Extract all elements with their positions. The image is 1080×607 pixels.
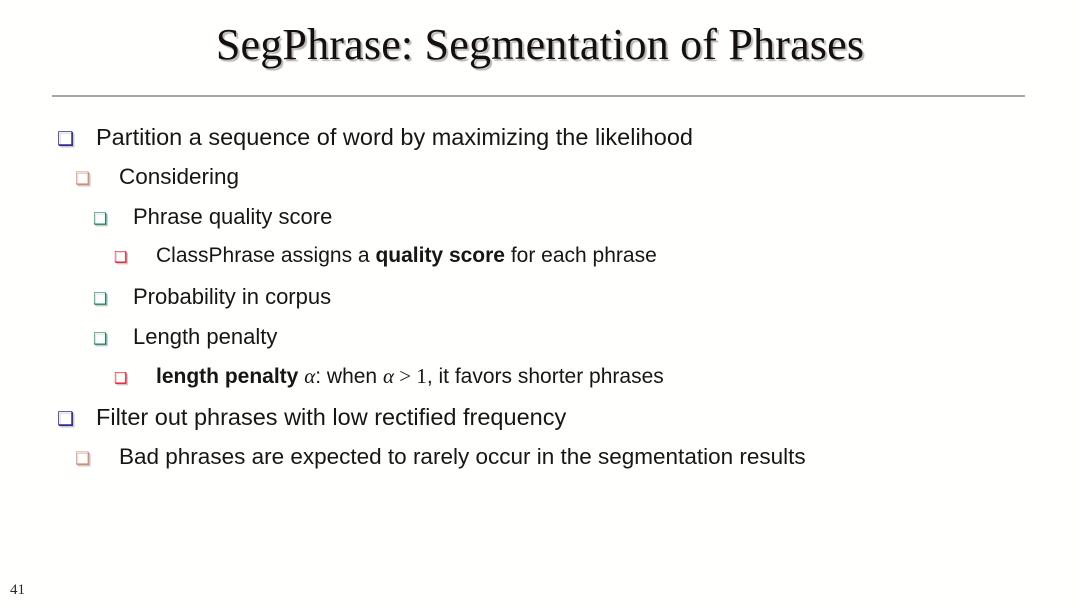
bullet-label: Filter out phrases with low rectified fr…: [96, 404, 1080, 431]
bullet-label: Partition a sequence of word by maximizi…: [96, 124, 1080, 151]
bullet-text-after: , it favors shorter phrases: [427, 365, 664, 388]
bullet-item-classphrase: ❑ ClassPhrase assigns a quality score fo…: [0, 244, 1080, 284]
bullet-item-considering: ❑ Considering: [0, 164, 1080, 204]
numeral-one: 1: [416, 364, 427, 388]
bullet-label: length penalty α: when α > 1, it favors …: [156, 364, 1080, 389]
bullet-text-after: for each phrase: [505, 244, 657, 267]
bullet-label: Length penalty: [133, 324, 1080, 350]
bullet-square-icon: ❑: [93, 211, 133, 227]
bullet-item-probability-in-corpus: ❑ Probability in corpus: [0, 284, 1080, 324]
page-number: 41: [10, 582, 25, 599]
bullet-label: Probability in corpus: [133, 284, 1080, 310]
bullet-item-length-penalty-alpha: ❑ length penalty α: when α > 1, it favor…: [0, 364, 1080, 404]
bullet-square-icon: ❑: [75, 451, 119, 468]
title-divider: [52, 95, 1025, 97]
greater-than-symbol: >: [394, 364, 416, 388]
bullet-label: Considering: [119, 164, 1080, 190]
bullet-text-emphasis: quality score: [375, 244, 505, 267]
bullet-item-partition: ❑ Partition a sequence of word by maximi…: [0, 124, 1080, 164]
bullet-square-icon: ❑: [57, 130, 96, 149]
bullet-label: Bad phrases are expected to rarely occur…: [119, 444, 1080, 470]
bullet-item-filter-out-phrases: ❑ Filter out phrases with low rectified …: [0, 404, 1080, 444]
bullet-square-icon: ❑: [114, 371, 156, 386]
bullet-square-icon: ❑: [75, 171, 119, 188]
alpha-symbol: α: [383, 364, 394, 388]
slide-body-list: ❑ Partition a sequence of word by maximi…: [0, 124, 1080, 484]
bullet-text-middle: : when: [315, 365, 383, 388]
bullet-square-icon: ❑: [93, 291, 133, 307]
bullet-item-phrase-quality-score: ❑ Phrase quality score: [0, 204, 1080, 244]
bullet-label: ClassPhrase assigns a quality score for …: [156, 244, 1080, 268]
bullet-text-before: ClassPhrase assigns a: [156, 244, 375, 267]
slide-title: SegPhrase: Segmentation of Phrases: [0, 22, 1080, 68]
bullet-label: Phrase quality score: [133, 204, 1080, 230]
alpha-symbol: α: [304, 364, 315, 388]
bullet-text-emphasis: length penalty: [156, 365, 298, 388]
bullet-square-icon: ❑: [57, 410, 96, 429]
bullet-square-icon: ❑: [114, 250, 156, 265]
bullet-item-length-penalty: ❑ Length penalty: [0, 324, 1080, 364]
bullet-square-icon: ❑: [93, 331, 133, 347]
bullet-item-bad-phrases: ❑ Bad phrases are expected to rarely occ…: [0, 444, 1080, 484]
